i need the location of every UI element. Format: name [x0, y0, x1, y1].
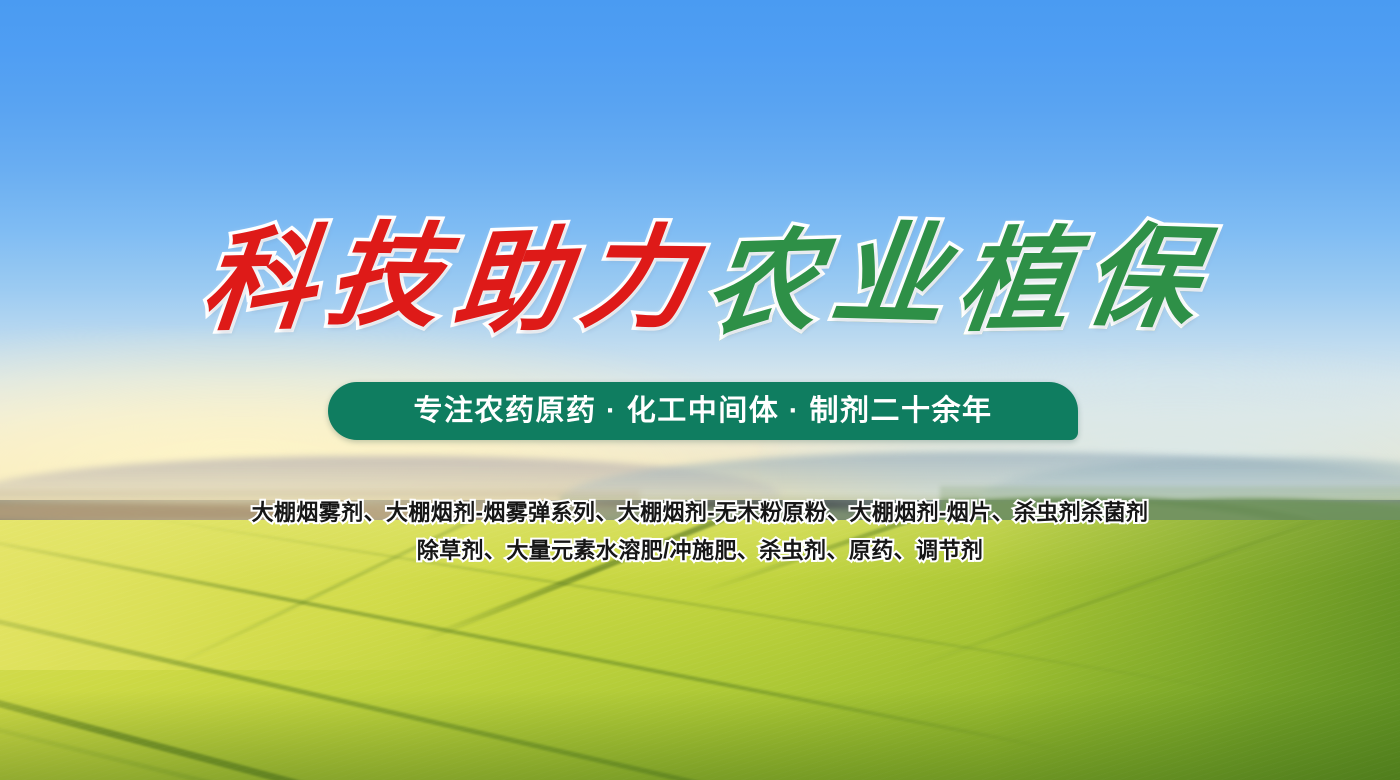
subtitle-text: 专注农药原药 · 化工中间体 · 制剂二十余年 — [413, 397, 992, 426]
subtitle-banner: 专注农药原药 · 化工中间体 · 制剂二十余年 — [328, 382, 1078, 440]
headline: 科 技 助 力 农 业 植 保 — [0, 196, 1400, 366]
product-line-1: 大棚烟雾剂、大棚烟剂-烟雾弹系列、大棚烟剂-无木粉原粉、大棚烟剂-烟片、杀虫剂杀… — [252, 498, 1149, 528]
headline-char-red-4: 力 — [575, 222, 700, 335]
headline-char-green-2: 业 — [827, 219, 953, 334]
headline-char-green-4: 保 — [1077, 220, 1206, 335]
headline-char-red-1: 科 — [197, 224, 321, 338]
hero-banner: 科 技 助 力 农 业 植 保 专注农药原药 · 化工中间体 · 制剂二十余年 … — [0, 0, 1400, 780]
headline-char-green-1: 农 — [699, 226, 826, 341]
product-line-2: 除草剂、大量元素水溶肥/冲施肥、杀虫剂、原药、调节剂 — [417, 536, 984, 566]
field-bottom-shade — [0, 690, 1400, 780]
headline-char-red-3: 助 — [449, 225, 573, 341]
product-list: 大棚烟雾剂、大棚烟剂-烟雾弹系列、大棚烟剂-无木粉原粉、大棚烟剂-烟片、杀虫剂杀… — [0, 498, 1400, 565]
headline-char-red-2: 技 — [322, 220, 449, 334]
headline-char-green-3: 植 — [952, 225, 1078, 339]
